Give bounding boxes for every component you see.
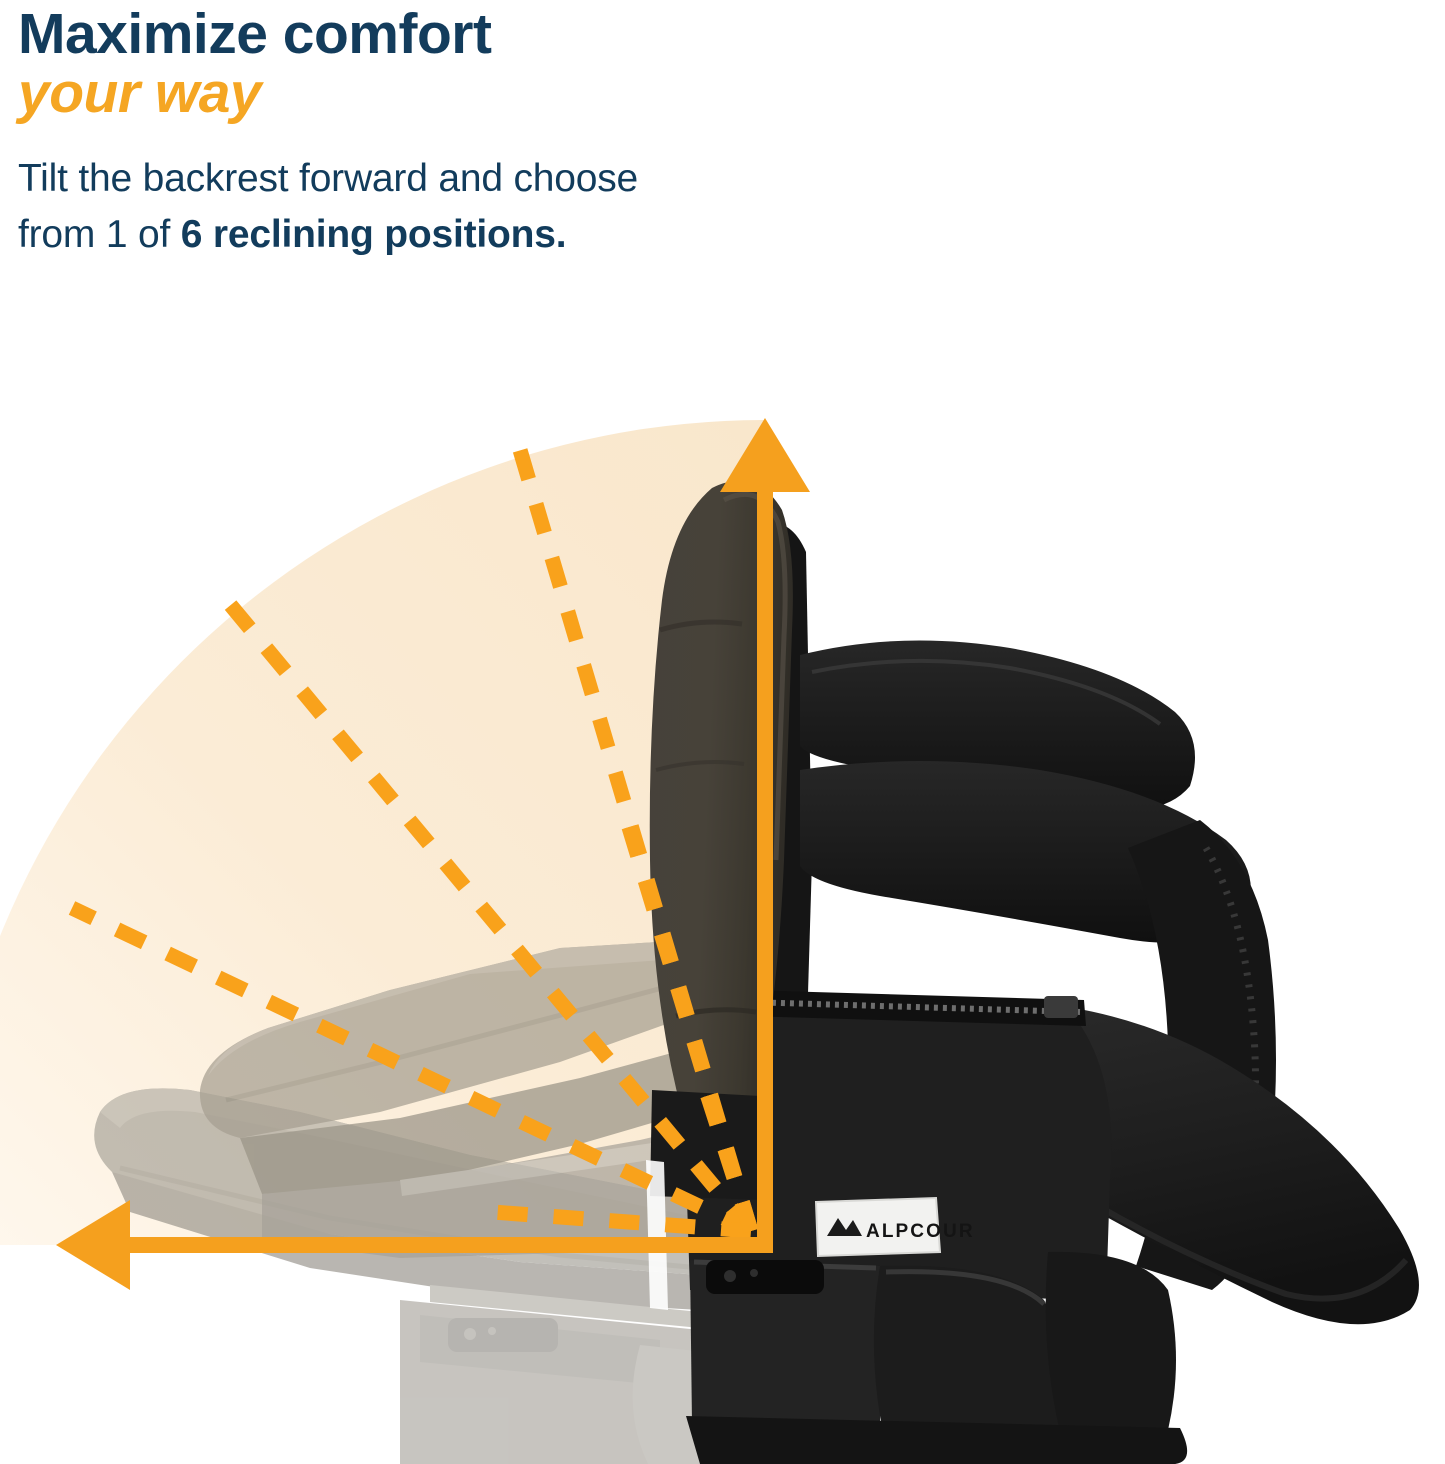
headline-accent: your way xyxy=(18,62,918,126)
brand-tag: ALPCOUR xyxy=(0,300,1445,1464)
subheadline-line2-prefix: from 1 of xyxy=(18,213,181,256)
subheadline-line1: Tilt the backrest forward and choose xyxy=(18,157,638,200)
brand-tag-text: ALPCOUR xyxy=(866,1221,975,1242)
header-block: Maximize comfort your way Tilt the backr… xyxy=(18,4,918,262)
subheadline-line2-bold: 6 reclining positions. xyxy=(181,213,567,256)
headline-primary: Maximize comfort xyxy=(18,4,918,66)
subheadline: Tilt the backrest forward and choose fro… xyxy=(18,151,918,262)
recline-diagram: ALPCOUR xyxy=(0,300,1445,1464)
